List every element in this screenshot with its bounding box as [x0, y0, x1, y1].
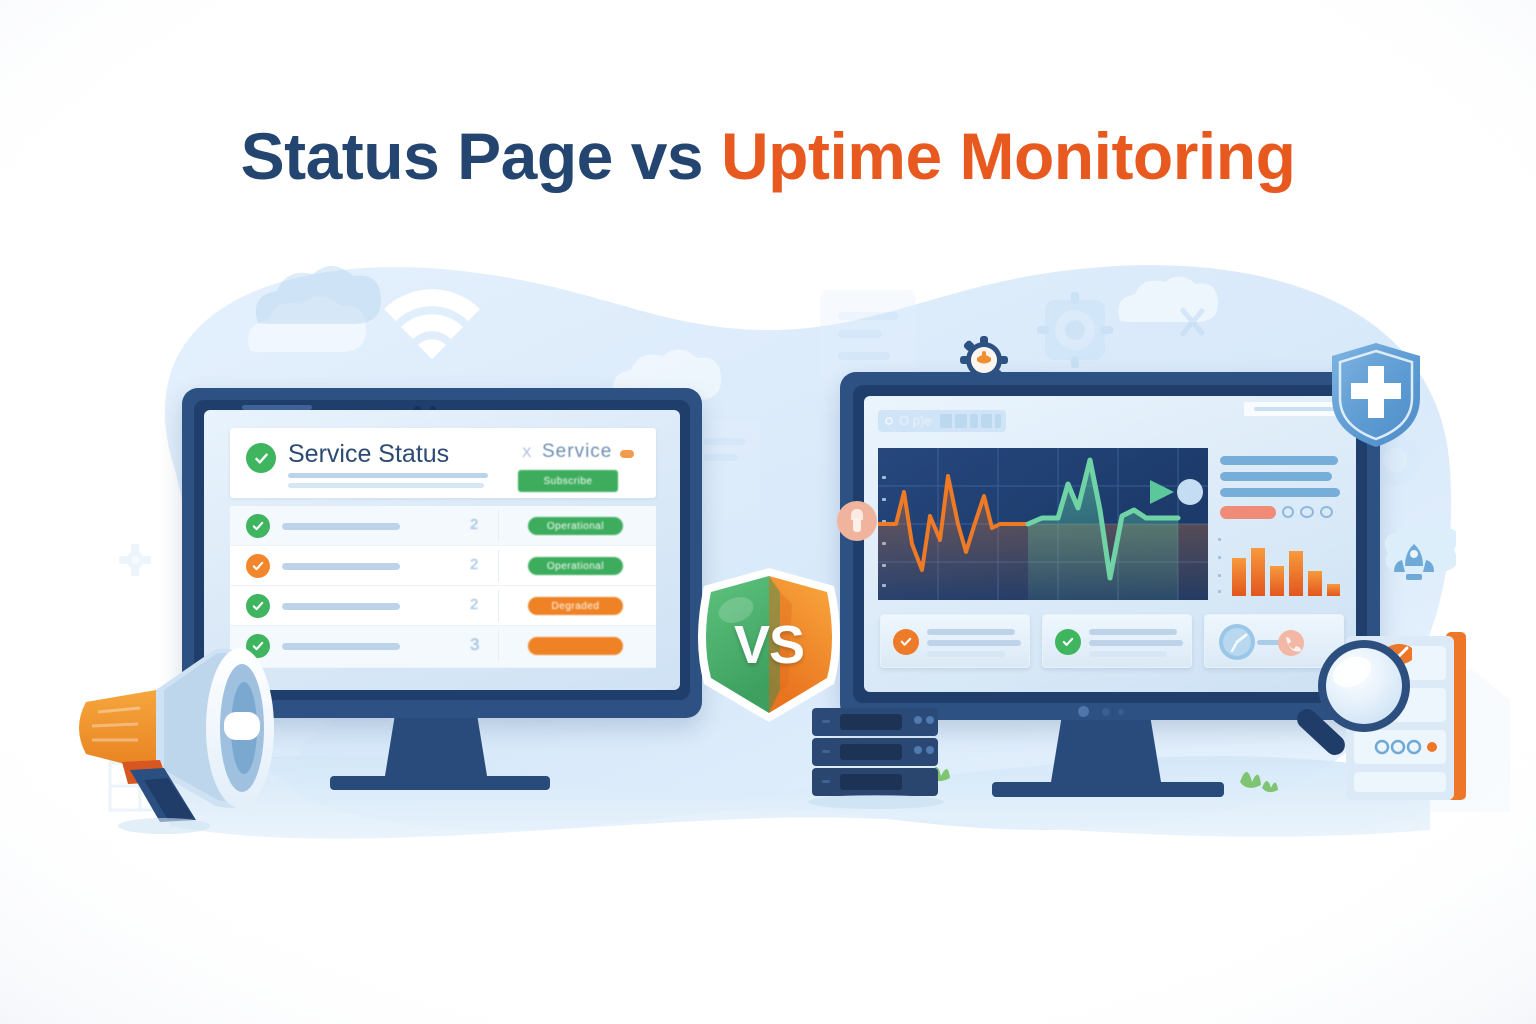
- header-skeleton-line-2: [288, 483, 484, 488]
- row-counter: 3: [470, 635, 479, 655]
- table-row[interactable]: 2 Operational: [230, 506, 656, 546]
- check-glyph: [251, 599, 265, 613]
- magnifying-glass-icon: [1288, 630, 1428, 780]
- right-screen: O p)e: [864, 396, 1356, 692]
- status-ring-icon: [1282, 506, 1294, 518]
- url-chip: [995, 414, 1001, 428]
- left-monitor-neck: [384, 718, 488, 782]
- url-chip: [981, 414, 992, 428]
- row-status-badge: Degraded: [528, 597, 623, 615]
- bar: [1251, 548, 1265, 596]
- service-status-secondary-prefix: X: [522, 444, 532, 460]
- check-glyph: [251, 519, 265, 533]
- card-skeleton-line: [927, 629, 1015, 635]
- card-skeleton-line: [927, 640, 1021, 646]
- service-status-secondary-label: Service: [542, 441, 612, 463]
- vs-badge: VS: [684, 560, 854, 730]
- right-monitor-indicator: [1102, 708, 1110, 716]
- row-counter: 2: [470, 596, 478, 613]
- page-title-part3: Uptime Monitoring: [721, 119, 1295, 193]
- chart-marker-dot: [1177, 479, 1203, 505]
- table-row[interactable]: 2 Operational: [230, 546, 656, 586]
- card-skeleton-line: [1089, 651, 1167, 657]
- bar: [1232, 558, 1246, 596]
- row-counter: 2: [470, 556, 478, 573]
- sidebar-skeleton-line: [1220, 472, 1332, 481]
- row-divider: [498, 550, 499, 582]
- right-monitor-power-led: [1078, 706, 1089, 717]
- row-divider: [498, 630, 499, 662]
- sidebar-skeleton-line: [1220, 488, 1340, 497]
- card-skeleton-line: [1089, 629, 1177, 635]
- bar: [1327, 584, 1340, 596]
- check-circle-icon: [246, 554, 270, 578]
- service-status-title: Service Status: [288, 440, 449, 469]
- row-divider: [498, 590, 499, 622]
- illustration-canvas: Status Page vs Uptime Monitoring Service…: [0, 0, 1536, 1024]
- row-label-skeleton: [282, 523, 400, 530]
- right-monitor-neck: [1050, 720, 1162, 788]
- bar-chart-ticks: [1218, 538, 1221, 593]
- row-status-badge: Operational: [528, 517, 623, 535]
- gear-icon: [960, 336, 1008, 384]
- left-monitor-foot: [330, 776, 550, 790]
- status-ring-icon: [1300, 506, 1314, 518]
- service-status-header: Service Status X Service Subscribe: [230, 428, 656, 498]
- row-status-badge: [528, 637, 623, 655]
- url-text: O p)e: [899, 413, 932, 428]
- row-counter: 2: [470, 516, 478, 533]
- check-circle-icon: [246, 594, 270, 618]
- browser-url-bar[interactable]: O p)e: [878, 410, 1006, 432]
- shield-cross-icon: [1328, 340, 1424, 450]
- rocket-cloud-icon: [1372, 524, 1456, 602]
- uptime-chart-panel: [878, 448, 1208, 600]
- toolbar-tab-lines: [1254, 407, 1338, 411]
- check-circle-icon: [893, 629, 919, 655]
- status-card[interactable]: [880, 614, 1030, 668]
- row-label-skeleton: [282, 603, 400, 610]
- uptime-chart-svg: [878, 448, 1208, 600]
- status-ring-icon: [1320, 506, 1333, 518]
- check-glyph: [1061, 635, 1075, 649]
- url-chip: [955, 414, 967, 428]
- check-circle-icon: [246, 443, 276, 473]
- check-circle-icon: [246, 514, 270, 538]
- url-chip: [940, 414, 952, 428]
- bar: [1270, 566, 1284, 596]
- sidebar-skeleton-line: [1220, 456, 1338, 465]
- metrics-sidebar: [1218, 448, 1344, 600]
- row-status-badge: Operational: [528, 557, 623, 575]
- header-skeleton-line-1: [288, 473, 488, 478]
- bar: [1308, 571, 1322, 596]
- url-dot-icon: [885, 417, 893, 425]
- page-title-part2: vs: [631, 119, 703, 193]
- bar: [1289, 551, 1303, 596]
- vs-badge-label: VS: [684, 560, 854, 730]
- megaphone-icon: [64, 620, 334, 840]
- play-triangle-icon: [1150, 480, 1174, 504]
- row-divider: [498, 510, 499, 542]
- lock-icon: [836, 500, 878, 542]
- alert-pill: [1220, 506, 1276, 519]
- right-monitor-foot: [992, 782, 1224, 797]
- gauge-icon: [1217, 622, 1257, 662]
- check-circle-icon: [1055, 629, 1081, 655]
- subscribe-badge[interactable]: Subscribe: [518, 470, 618, 492]
- secondary-label-accent: [620, 450, 634, 458]
- check-glyph: [251, 559, 265, 573]
- check-glyph: [253, 450, 270, 467]
- row-label-skeleton: [282, 563, 400, 570]
- status-card[interactable]: [1042, 614, 1192, 668]
- right-monitor-indicator: [1118, 709, 1124, 715]
- card-skeleton-line: [1089, 640, 1183, 646]
- sidebar-bar-chart: [1218, 532, 1344, 600]
- card-skeleton-line: [927, 651, 1005, 657]
- page-title: Status Page vs Uptime Monitoring: [0, 118, 1536, 194]
- check-glyph: [899, 635, 913, 649]
- page-title-part1: Status Page: [241, 119, 613, 193]
- url-chip: [970, 414, 978, 428]
